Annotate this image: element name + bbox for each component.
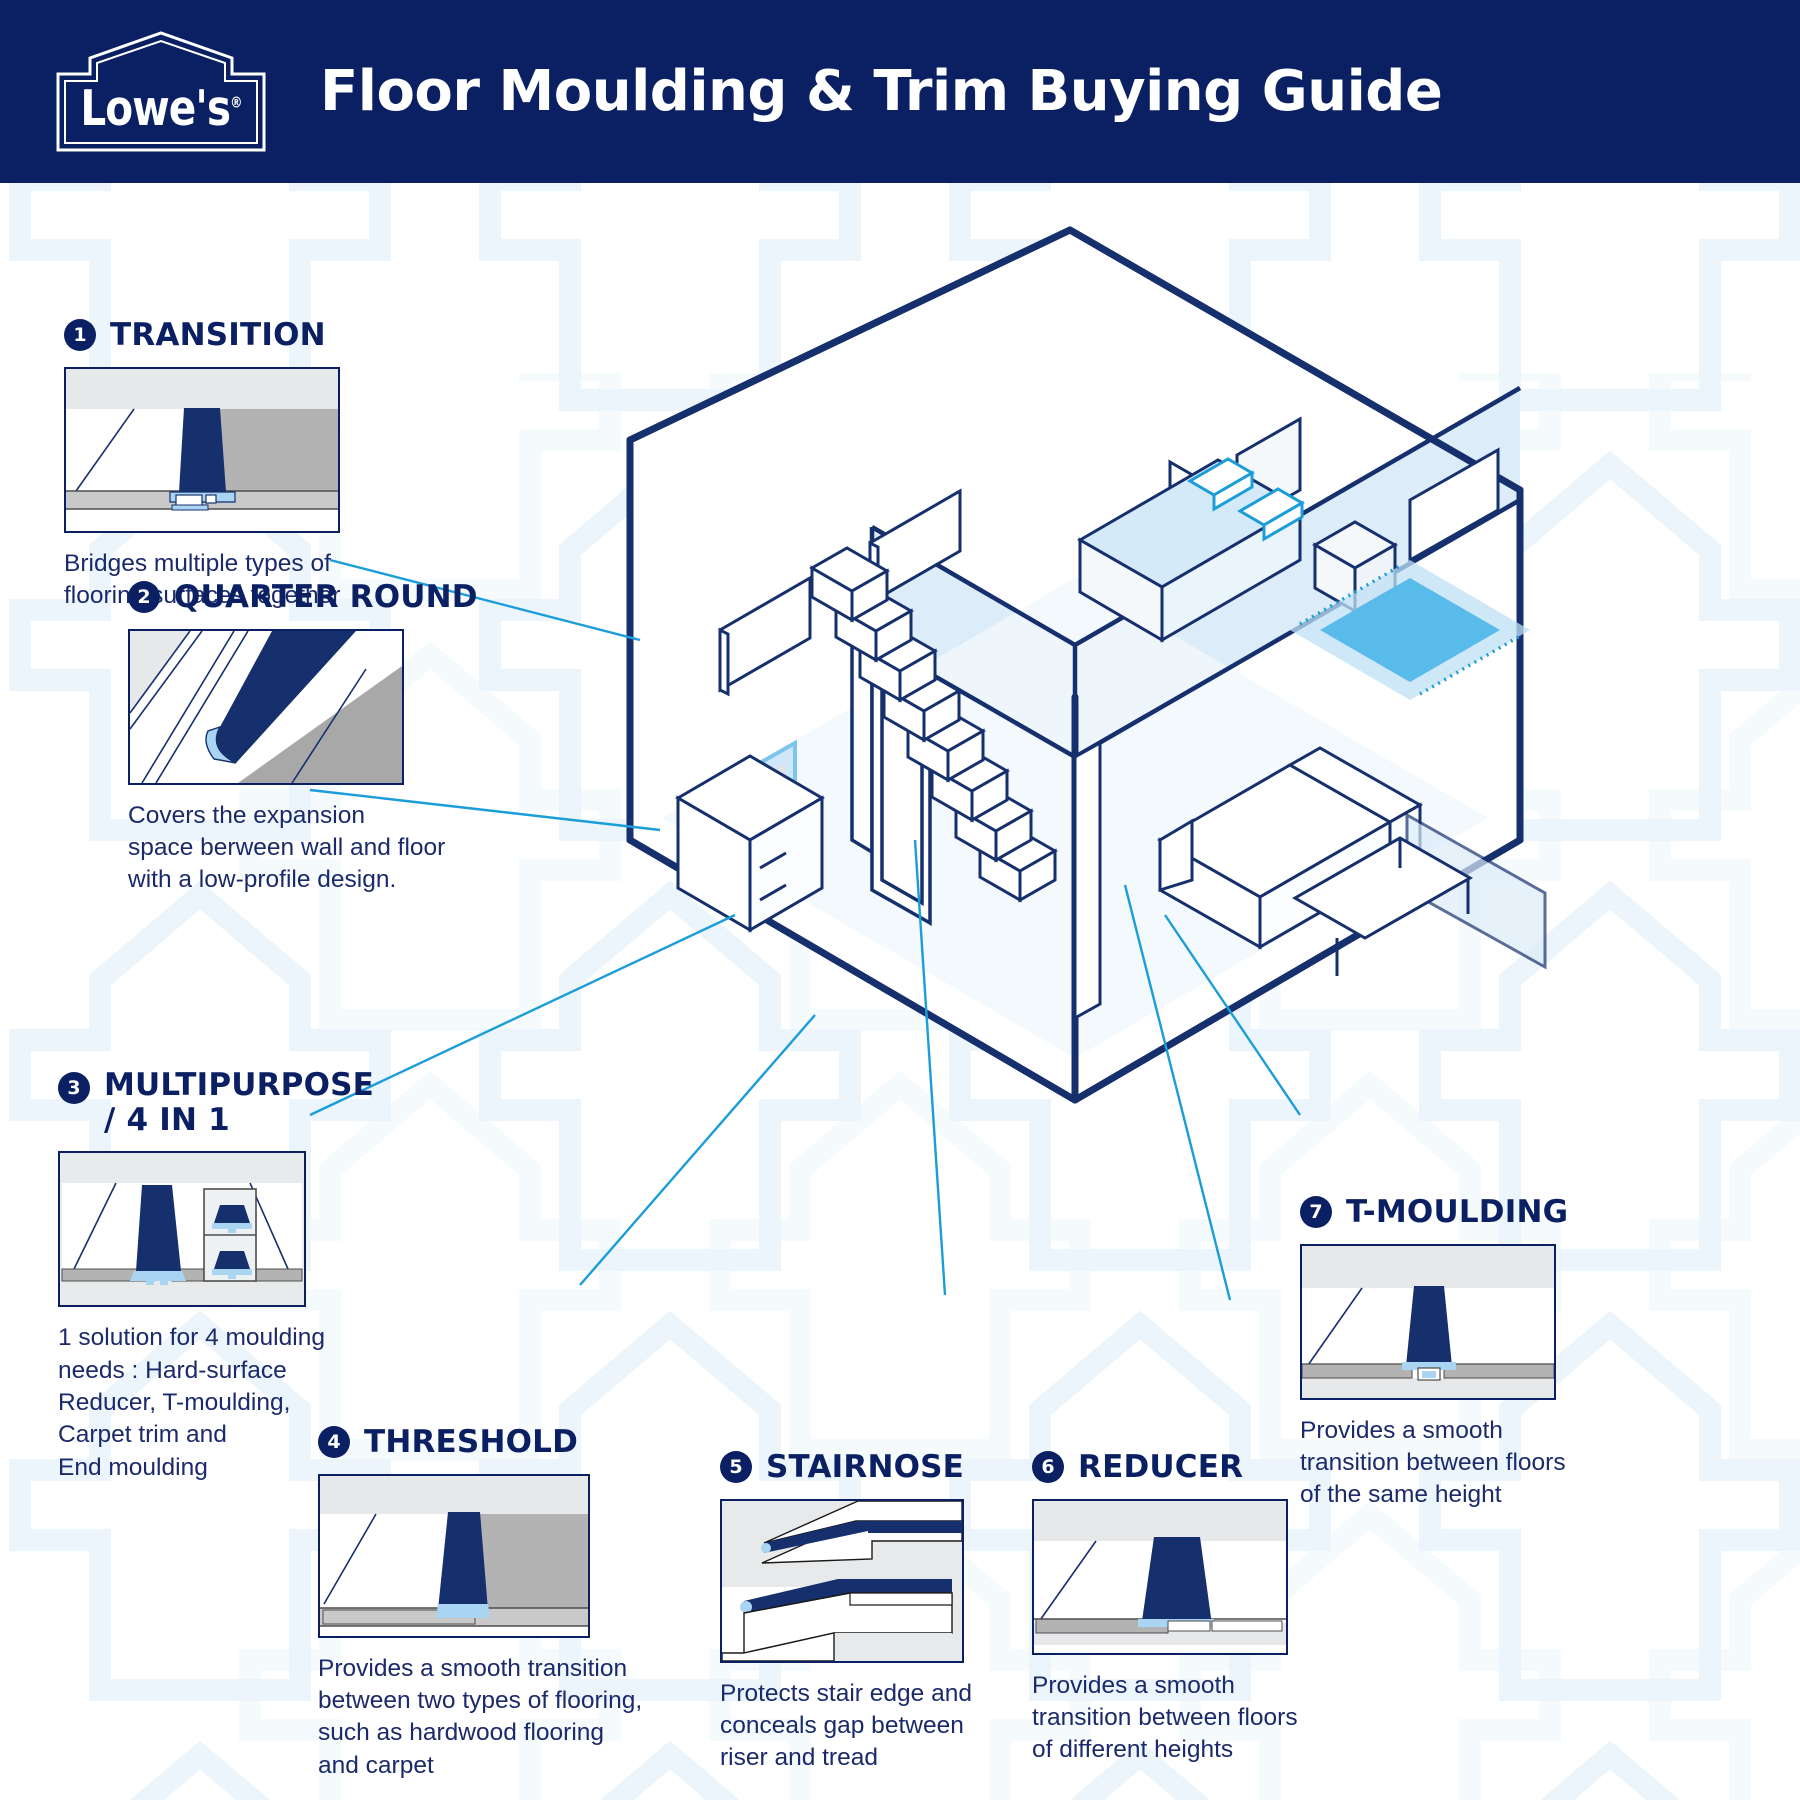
diagram-reducer-profile [1032, 1499, 1288, 1655]
card-header: 1 TRANSITION [64, 318, 404, 353]
card-description: Covers the expansion space berween wall … [128, 800, 488, 897]
diagram-quarter-round-profile [128, 629, 404, 785]
isometric-cutaway-house-illustration [600, 200, 1550, 1150]
page-header: Lowe's® Floor Moulding & Trim Buying Gui… [0, 0, 1800, 183]
card-header: 2 QUARTER ROUND [128, 580, 488, 615]
card-header: 4 THRESHOLD [318, 1425, 658, 1460]
badge-number: 3 [58, 1072, 90, 1104]
card-description: Provides a smooth transition between two… [318, 1653, 658, 1782]
item-card-reducer: 6 REDUCER Provides a smooth transition b… [1032, 1450, 1332, 1767]
diagram-transition-profile [64, 367, 340, 533]
stairwell-wall [1075, 743, 1100, 1018]
badge-number: 7 [1300, 1196, 1332, 1228]
diagram-stairnose-profile [720, 1499, 964, 1663]
card-title: TRANSITION [110, 318, 326, 353]
lowes-logo-text: Lowe's® [61, 80, 262, 137]
badge-number: 2 [128, 581, 160, 613]
page-title: Floor Moulding & Trim Buying Guide [320, 59, 1442, 124]
lowes-logo[interactable]: Lowe's® [52, 28, 270, 156]
lowes-logo-wordmark: Lowe's [80, 80, 230, 137]
item-card-t-moulding: 7 T-MOULDING Provides a smooth transitio… [1300, 1195, 1600, 1512]
window-upper-left-frame [720, 630, 728, 694]
item-card-stairnose: 5 STAIRNOSE Protects stair edge and conc… [720, 1450, 1020, 1775]
card-description: 1 solution for 4 moulding needs : Hard-s… [58, 1322, 358, 1484]
item-card-transition: 1 TRANSITION Bridges multiple types of f… [64, 318, 404, 612]
card-description: Provides a smooth transition between flo… [1032, 1670, 1332, 1767]
card-header: 5 STAIRNOSE [720, 1450, 1020, 1485]
item-card-quarter-round: 2 QUARTER ROUND Covers the expansion spa… [128, 580, 488, 897]
card-title: MULTIPURPOSE / 4 IN 1 [104, 1068, 374, 1137]
card-title: QUARTER ROUND [174, 580, 478, 615]
card-title: REDUCER [1078, 1450, 1243, 1485]
card-header: 6 REDUCER [1032, 1450, 1332, 1485]
card-header: 7 T-MOULDING [1300, 1195, 1600, 1230]
diagram-multipurpose-profile [58, 1151, 306, 1307]
card-description: Provides a smooth transition between flo… [1300, 1415, 1600, 1512]
registered-trademark-icon: ® [230, 93, 242, 111]
diagram-t-moulding-profile [1300, 1244, 1556, 1400]
card-description: Protects stair edge and conceals gap bet… [720, 1678, 1020, 1775]
badge-number: 5 [720, 1451, 752, 1483]
badge-number: 6 [1032, 1451, 1064, 1483]
card-title: STAIRNOSE [766, 1450, 964, 1485]
card-header: 3 MULTIPURPOSE / 4 IN 1 [58, 1068, 358, 1137]
diagram-threshold-profile [318, 1474, 590, 1638]
card-title: T-MOULDING [1346, 1195, 1568, 1230]
card-title: THRESHOLD [364, 1425, 578, 1460]
badge-number: 4 [318, 1426, 350, 1458]
badge-number: 1 [64, 319, 96, 351]
item-card-threshold: 4 THRESHOLD Provides a smooth transition… [318, 1425, 658, 1782]
item-card-multipurpose: 3 MULTIPURPOSE / 4 IN 1 1 solution for 4… [58, 1068, 358, 1484]
